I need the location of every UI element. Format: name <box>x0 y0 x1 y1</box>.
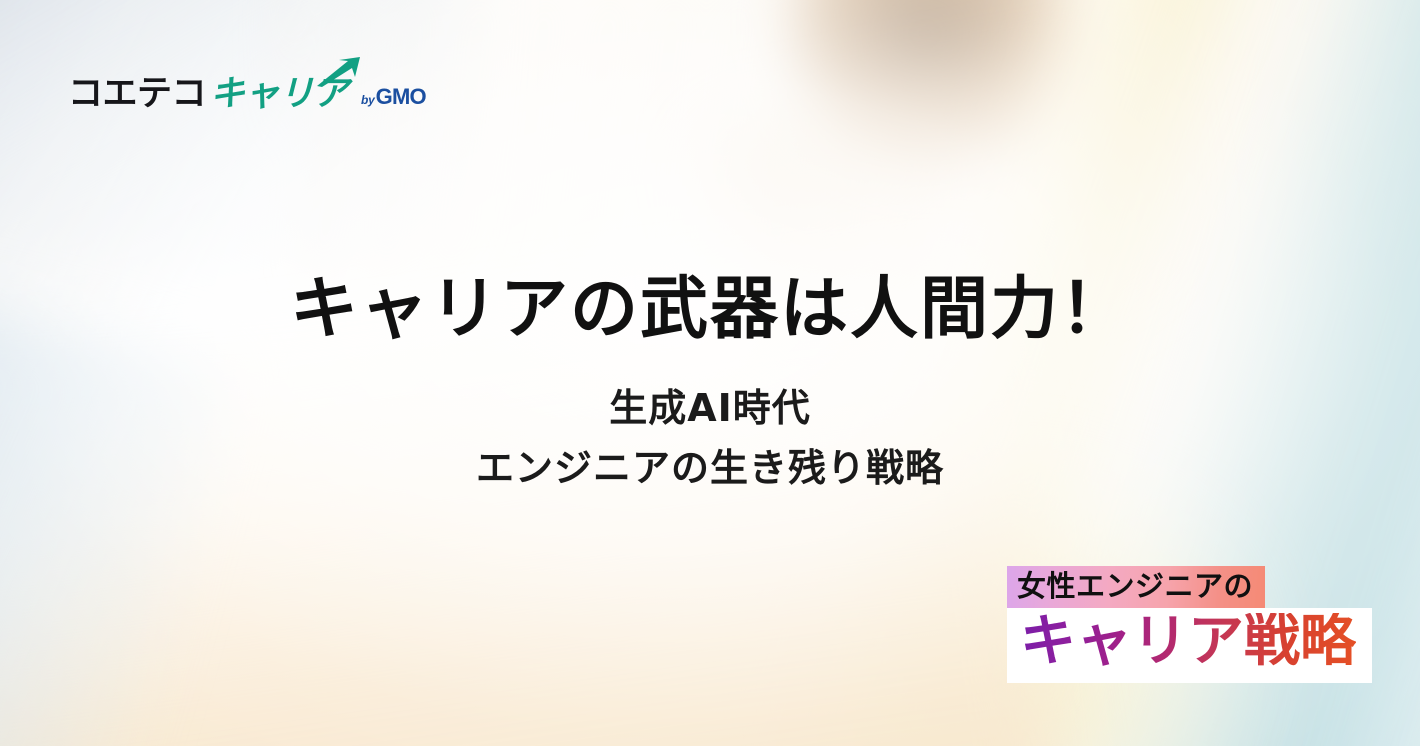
growth-arrow-icon <box>315 57 361 87</box>
subtitle-line-1: 生成AI時代 <box>0 378 1420 438</box>
series-badge-kicker: 女性エンジニアの <box>1007 566 1265 608</box>
series-badge-main-block: キャリア戦略 <box>1007 608 1372 683</box>
logo-by-gmo: by GMO <box>361 84 426 110</box>
logo-text-koeteko: コエテコ <box>68 77 206 112</box>
logo-wordmark: コエテコ キャリア <box>68 77 348 112</box>
presentation-slide: コエテコ キャリア by GMO キャリアの武器は人間力！ 生成AI時代 エンジ… <box>0 0 1420 746</box>
series-badge: 女性エンジニアの キャリア戦略 <box>1007 566 1383 683</box>
subtitle-group: 生成AI時代 エンジニアの生き残り戦略 <box>0 378 1420 498</box>
subtitle-line-2: エンジニアの生き残り戦略 <box>0 438 1420 498</box>
series-badge-main-text: キャリア戦略 <box>1020 613 1356 672</box>
headline-block: キャリアの武器は人間力！ 生成AI時代 エンジニアの生き残り戦略 <box>0 272 1420 498</box>
logo-text-by: by <box>361 93 375 107</box>
brand-logo: コエテコ キャリア by GMO <box>68 58 426 112</box>
page-title: キャリアの武器は人間力！ <box>0 272 1420 348</box>
logo-text-gmo: GMO <box>376 84 426 110</box>
logo-career-wrapper: キャリア <box>210 77 348 112</box>
